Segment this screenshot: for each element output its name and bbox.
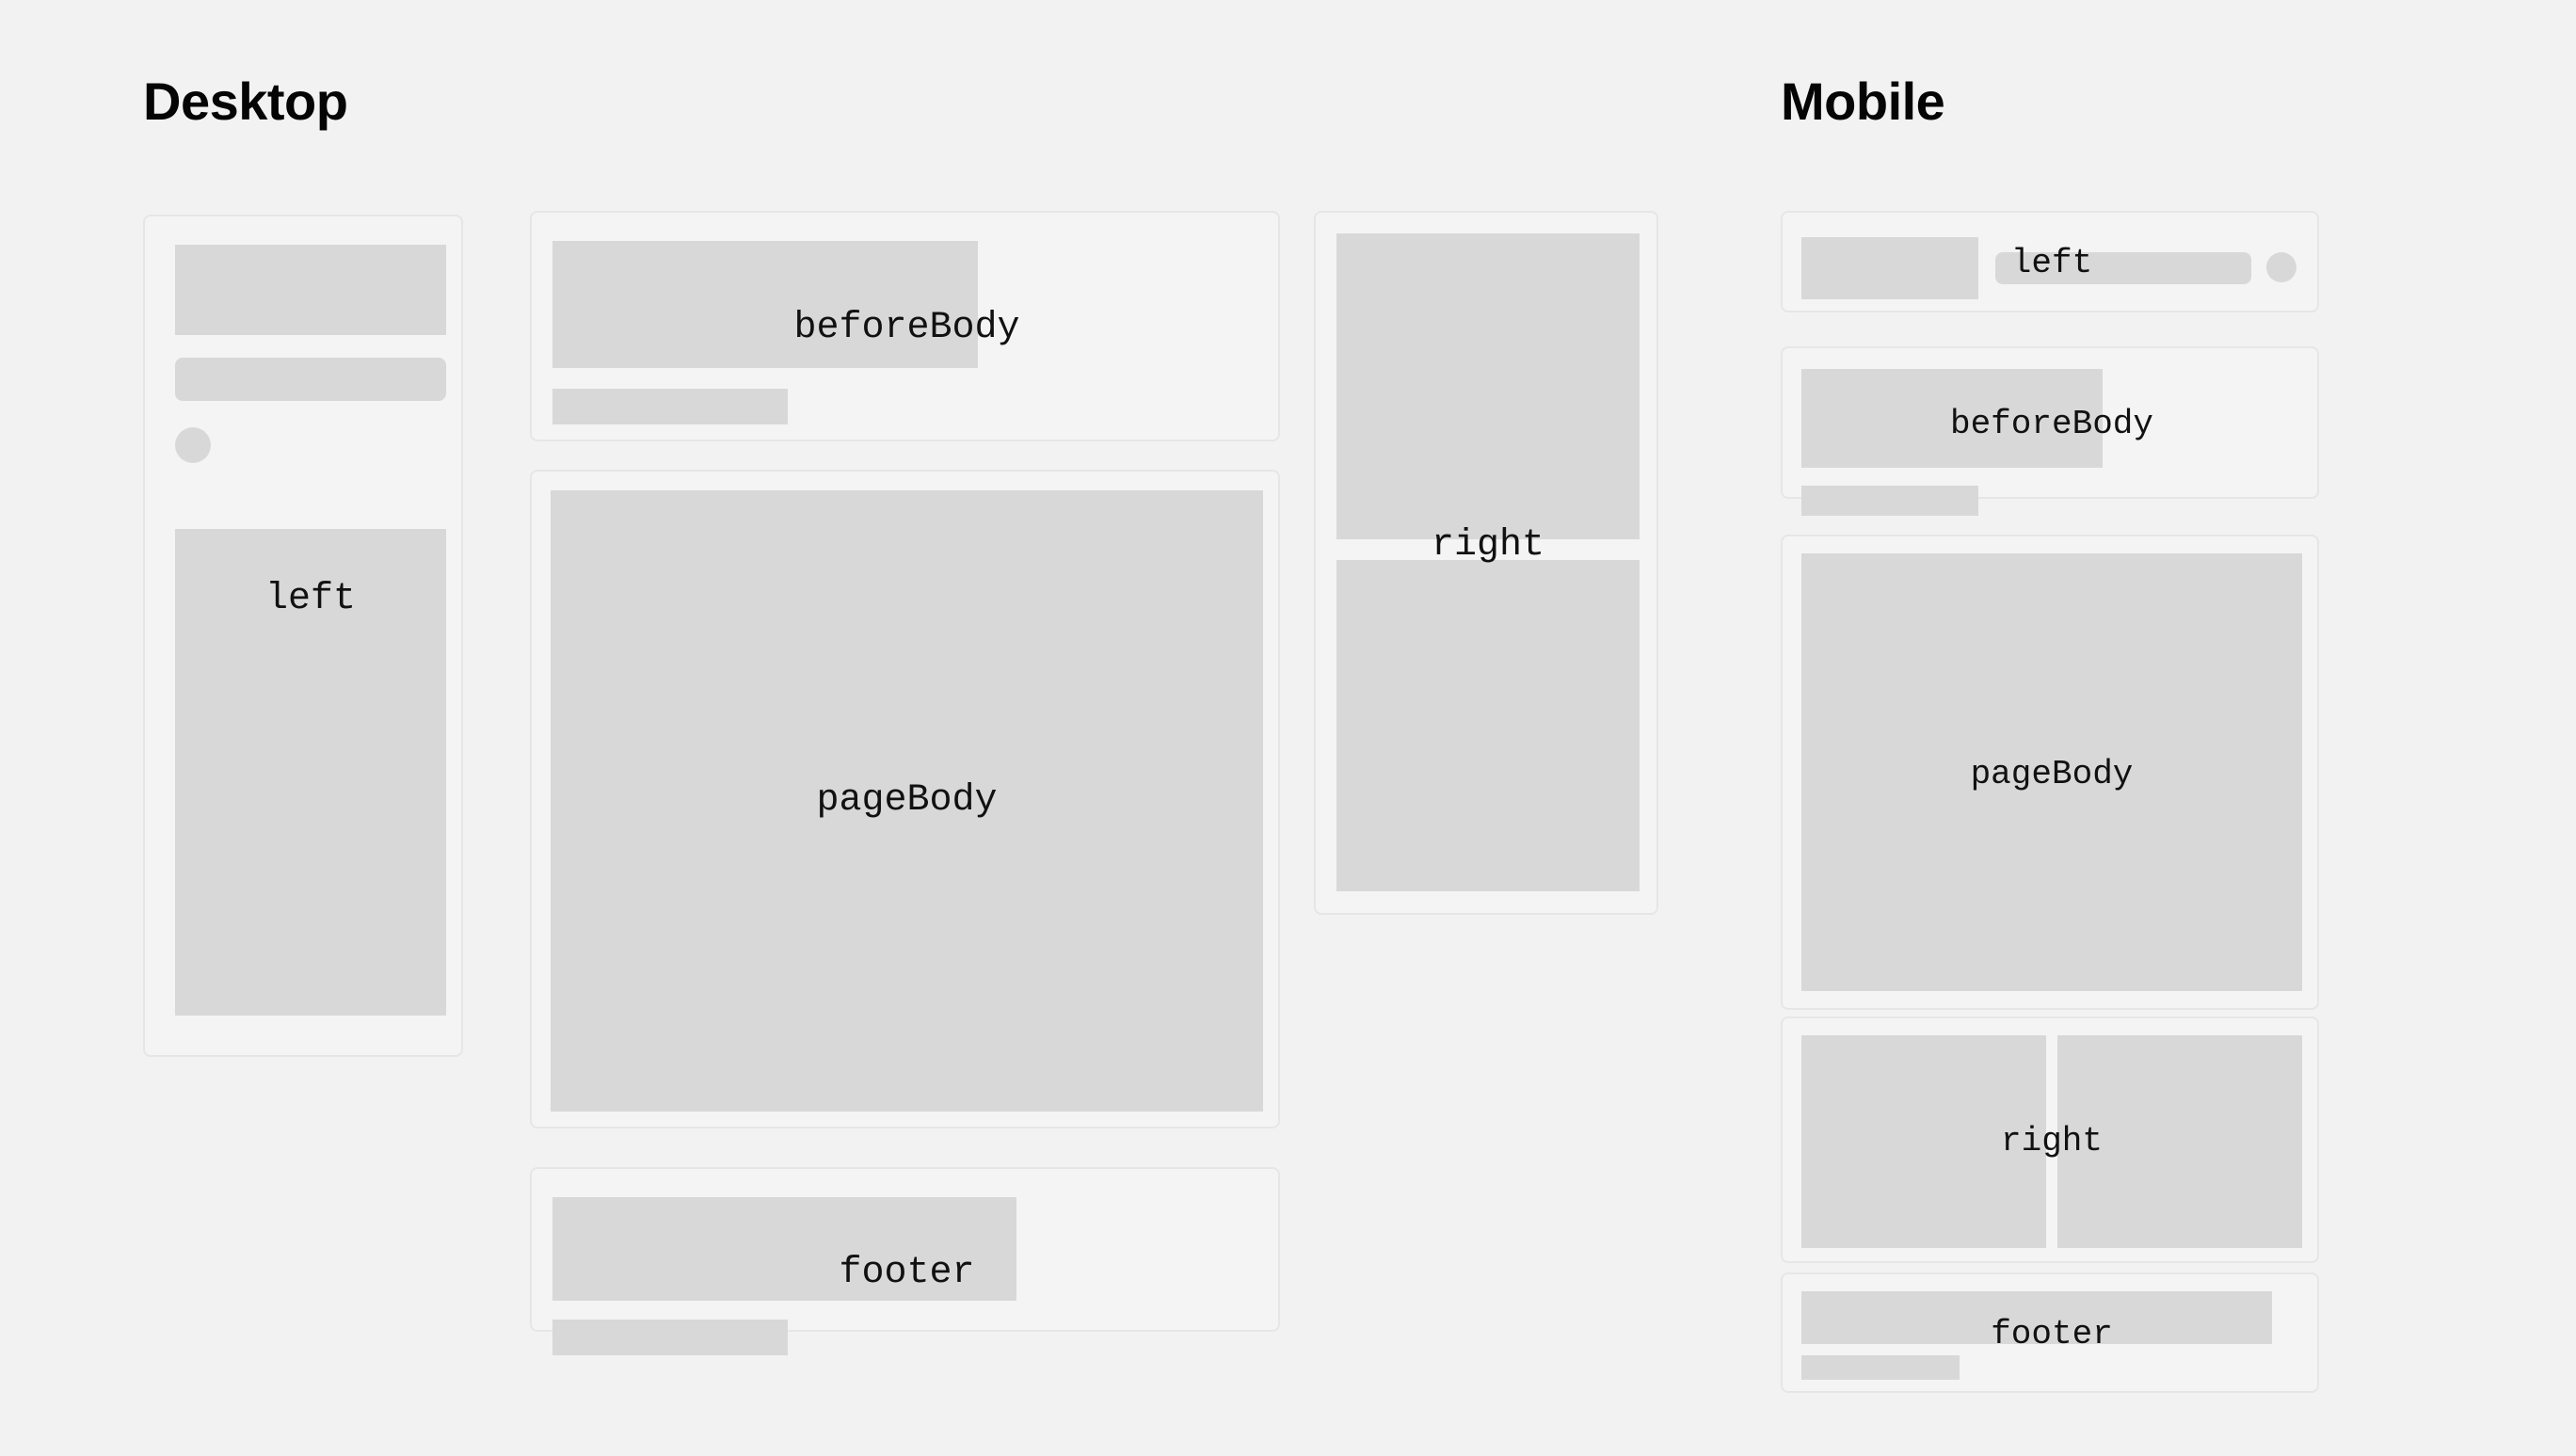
skeleton-block <box>1801 553 2302 991</box>
skeleton-block-rounded <box>1995 252 2251 284</box>
skeleton-block <box>1801 1035 2046 1248</box>
layout-preview-stage: Desktop left beforeBody pageBody footer … <box>0 0 2576 1456</box>
skeleton-block <box>1801 486 1978 516</box>
skeleton-block <box>1336 233 1640 539</box>
mobile-page-body-panel[interactable]: pageBody <box>1781 535 2319 1010</box>
mobile-right-panel[interactable]: right <box>1781 1016 2319 1263</box>
skeleton-block <box>552 389 788 424</box>
skeleton-block <box>175 245 446 335</box>
desktop-section-heading: Desktop <box>143 72 347 132</box>
skeleton-block <box>552 1197 1016 1301</box>
skeleton-block <box>1801 1355 1960 1380</box>
skeleton-block <box>175 529 446 1016</box>
skeleton-avatar-circle <box>175 427 211 463</box>
desktop-page-body-panel[interactable]: pageBody <box>530 470 1280 1128</box>
skeleton-block <box>2057 1035 2302 1248</box>
desktop-before-body-panel[interactable]: beforeBody <box>530 211 1280 441</box>
skeleton-block <box>1801 369 2103 468</box>
skeleton-block <box>552 241 978 368</box>
skeleton-block <box>1801 1291 2272 1344</box>
mobile-before-body-panel[interactable]: beforeBody <box>1781 346 2319 499</box>
skeleton-block <box>1801 237 1978 299</box>
skeleton-block <box>1336 560 1640 891</box>
skeleton-avatar-circle <box>2266 252 2296 282</box>
skeleton-block-rounded <box>175 358 446 401</box>
mobile-section-heading: Mobile <box>1781 72 1944 132</box>
desktop-left-panel[interactable]: left <box>143 215 463 1057</box>
desktop-right-panel[interactable]: right <box>1314 211 1658 915</box>
skeleton-block <box>551 490 1263 1112</box>
mobile-left-panel[interactable]: left <box>1781 211 2319 312</box>
mobile-footer-panel[interactable]: footer <box>1781 1272 2319 1393</box>
skeleton-block <box>552 1320 788 1355</box>
desktop-footer-panel[interactable]: footer <box>530 1167 1280 1332</box>
